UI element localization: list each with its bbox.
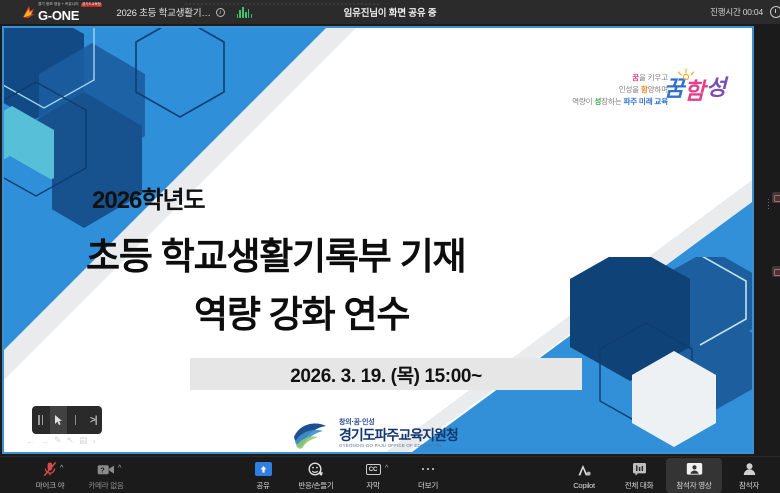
- annot-pen-icon[interactable]: ✎: [54, 435, 62, 446]
- slogan-line-1: 꿈을 키우고: [572, 72, 668, 84]
- meeting-window: 경기 정보 영상 + 커뮤니티 경기도교육청 G-ONE 2026 초등 학교생…: [0, 0, 780, 493]
- screen-share-status: 임유진님이 화면 공유 중: [344, 5, 437, 19]
- pointer-cursor-icon[interactable]: [50, 406, 68, 434]
- title-bar: 경기 정보 영상 + 커뮤니티 경기도교육청 G-ONE 2026 초등 학교생…: [0, 0, 780, 24]
- toolbar-label-gallery: 참석자 영상: [676, 480, 711, 491]
- g-one-logo[interactable]: 경기 정보 영상 + 커뮤니티 경기도교육청 G-ONE: [0, 0, 110, 24]
- captions-chevron-up-icon[interactable]: ^: [385, 465, 388, 472]
- org-name: 경기도파주교육지원청: [339, 428, 458, 442]
- annot-more-icon[interactable]: ›: [93, 436, 96, 446]
- toolbar-label-reactions: 반응/손들기: [298, 480, 333, 491]
- panel-thumb-top[interactable]: [772, 192, 780, 203]
- elapsed-time: 진행시간 00:04: [710, 6, 763, 18]
- control-divider: [67, 406, 85, 434]
- meeting-tab-title[interactable]: 2026 초등 학교생활기…: [116, 5, 210, 19]
- participant-video-icon: [686, 461, 703, 478]
- people-icon: [742, 461, 757, 478]
- shared-screen-stage: 꿈을 키우고 인성을 함양하며 역량이 성장하는 파주 미래 교육 꿈: [0, 24, 760, 456]
- right-side-panel: [760, 24, 780, 456]
- toolbar-item-more[interactable]: 더보기: [400, 458, 456, 493]
- toolbar-item-captions[interactable]: CC 자막: [345, 458, 401, 493]
- toolbar-item-gallery[interactable]: 참석자 영상: [666, 458, 722, 493]
- more-options-icon: [422, 461, 435, 478]
- audio-waveform-icon: [237, 7, 253, 18]
- toolbar-item-chat[interactable]: 전체 대화: [611, 458, 667, 493]
- slide-datetime-band: 2026. 3. 19. (목) 15:00~: [190, 358, 582, 390]
- logo-badge: 경기도교육청: [81, 3, 103, 7]
- org-tagline: 창의·꿈·인성: [339, 419, 458, 426]
- share-screen-icon: [255, 461, 272, 478]
- annotation-toolbar[interactable]: ← → ✎ ↖ ▤ ›: [26, 435, 96, 446]
- title-bar-right: 진행시간 00:04: [710, 0, 780, 24]
- camera-chevron-up-icon[interactable]: ^: [118, 465, 121, 472]
- slogan-lines: 꿈을 키우고 인성을 함양하며 역량이 성장하는 파주 미래 교육: [572, 72, 668, 107]
- toolbar-label-share: 공유: [256, 480, 269, 491]
- pause-icon[interactable]: [32, 406, 50, 434]
- toolbar-label-camera: 카메라 없음: [88, 480, 123, 491]
- toolbar-label-people: 참석자: [739, 480, 759, 491]
- microphone-muted-icon: [43, 461, 57, 478]
- slide-title-line1: 초등 학교생활기록부 기재: [86, 226, 465, 280]
- wave-swoosh-logo-icon: [292, 417, 332, 451]
- presentation-slide: 꿈을 키우고 인성을 함양하며 역량이 성장하는 파주 미래 교육 꿈: [4, 28, 752, 452]
- toolbar-item-share[interactable]: 공유: [235, 458, 291, 493]
- slogan-line-2: 인성을 함양하며: [572, 84, 668, 96]
- closed-caption-icon: CC: [366, 461, 381, 478]
- chat-icon: [632, 461, 647, 478]
- toolbar-item-reactions[interactable]: 반응/손들기: [288, 458, 344, 493]
- shared-screen-frame[interactable]: 꿈을 키우고 인성을 함양하며 역량이 성장하는 파주 미래 교육 꿈: [2, 26, 754, 454]
- logo-wordmark: G-ONE: [38, 9, 102, 22]
- slide-year: 2026학년도: [92, 180, 205, 215]
- toolbar-item-people[interactable]: 참석자: [721, 458, 777, 493]
- camera-unavailable-icon: ?: [97, 461, 115, 478]
- annot-erase-icon[interactable]: ▤: [79, 435, 88, 446]
- slogan-calligraphy: 꿈 함 성: [664, 68, 732, 108]
- svg-text:성: 성: [706, 75, 729, 100]
- panel-thumb-bottom[interactable]: [772, 266, 780, 277]
- info-icon[interactable]: i: [216, 8, 225, 17]
- slide-player-controls[interactable]: >|: [32, 406, 102, 434]
- mic-chevron-up-icon[interactable]: ^: [60, 465, 63, 472]
- logo-sup-text: 경기 정보 영상 + 커뮤니티: [38, 3, 79, 7]
- panel-drag-handle[interactable]: [767, 198, 770, 210]
- next-slide-icon[interactable]: >|: [85, 406, 103, 434]
- svg-text:?: ?: [100, 467, 104, 474]
- star-burst-icon: [22, 5, 35, 19]
- slide-datetime: 2026. 3. 19. (목) 15:00~: [290, 361, 482, 388]
- annot-back-icon[interactable]: ←: [26, 436, 35, 446]
- toolbar-label-captions: 자막: [366, 480, 379, 491]
- annot-fwd-icon[interactable]: →: [40, 436, 49, 446]
- toolbar-label-mic: 마이크 야: [36, 480, 65, 491]
- meeting-toolbar: 마이크 야 ^ ? 카메라 없음 ^: [0, 456, 780, 493]
- slogan-line-3: 역량이 성장하는 파주 미래 교육: [572, 96, 668, 108]
- organization-logo: 창의·꿈·인성 경기도파주교육지원청 GYEONGGI-DO PAJU OFFI…: [292, 417, 458, 451]
- toolbar-label-more: 더보기: [418, 480, 438, 491]
- reactions-hand-icon: [308, 461, 325, 478]
- window-drag-handle[interactable]: [184, 2, 380, 6]
- toolbar-item-mic[interactable]: 마이크 야: [22, 458, 78, 493]
- copilot-icon: [576, 462, 592, 479]
- toolbar-item-camera[interactable]: ? 카메라 없음: [78, 458, 134, 493]
- annot-cursor-icon[interactable]: ↖: [67, 435, 75, 446]
- slogan-block: 꿈을 키우고 인성을 함양하며 역량이 성장하는 파주 미래 교육 꿈: [572, 68, 730, 128]
- toolbar-label-copilot: Copilot: [573, 481, 595, 490]
- org-english: GYEONGGI-DO PAJU OFFICE OF EDUCATION: [339, 444, 458, 448]
- toolbar-item-copilot[interactable]: Copilot: [556, 458, 612, 493]
- clock-icon[interactable]: [770, 6, 780, 18]
- slide-title-line2: 역량 강화 연수: [194, 284, 409, 338]
- toolbar-label-chat: 전체 대화: [625, 480, 654, 491]
